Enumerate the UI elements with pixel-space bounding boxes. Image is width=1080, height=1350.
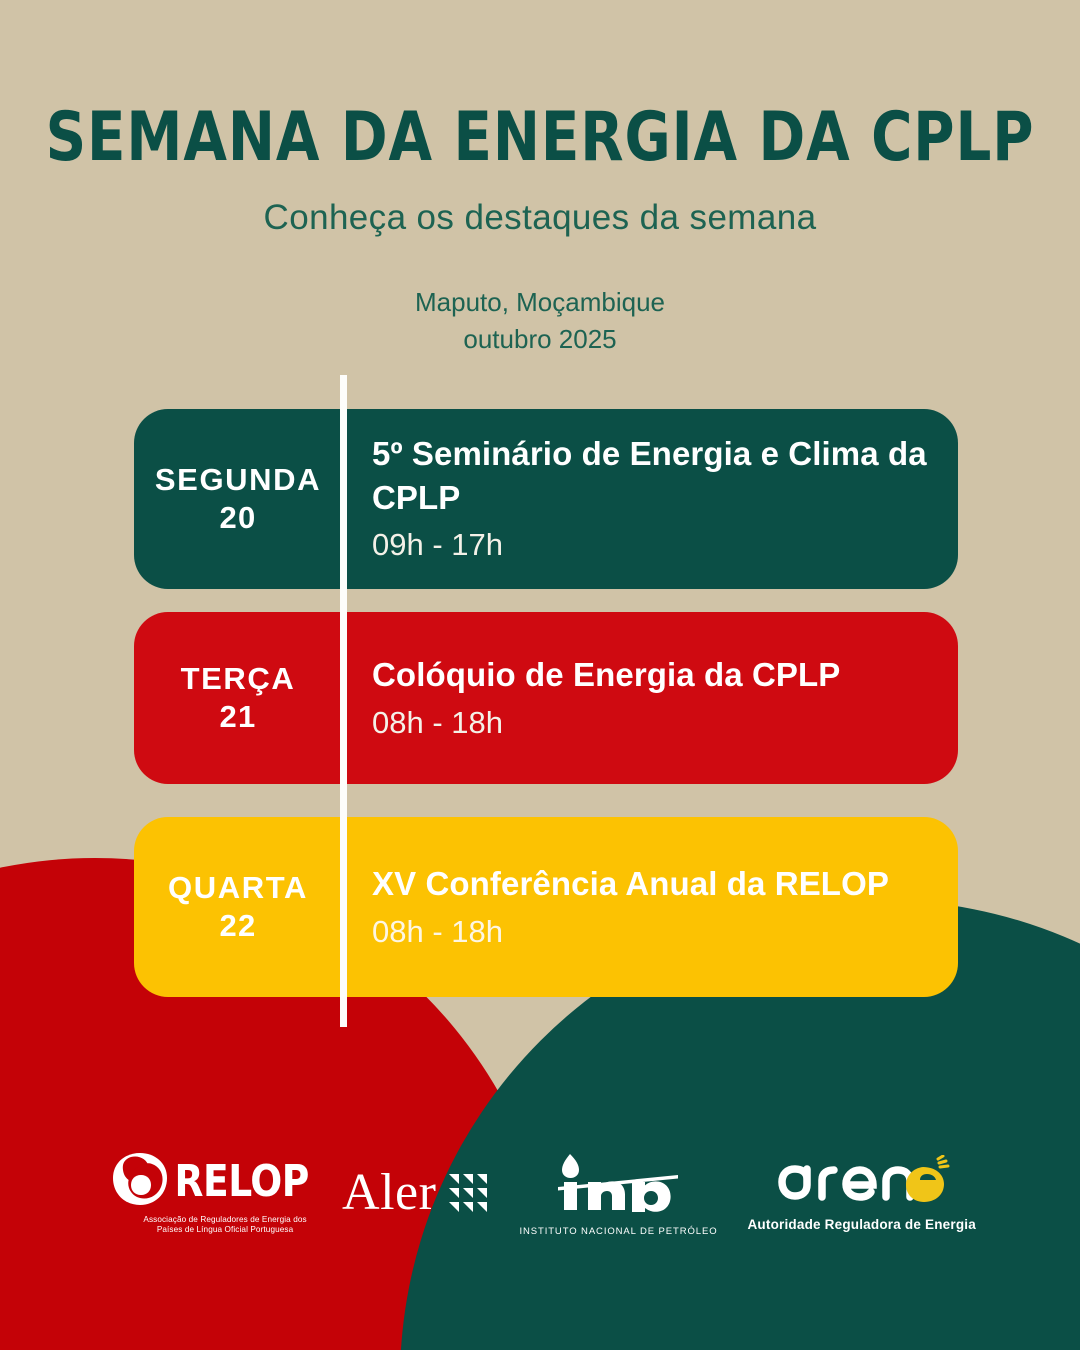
event-meta: Maputo, Moçambique outubro 2025 [0, 238, 1080, 358]
logo-relop-wordmark: RELOP [175, 1156, 309, 1207]
logo-relop[interactable]: RELOP Associação de Reguladores de Energ… [104, 1151, 320, 1236]
event-time: 08h - 18h [372, 906, 932, 952]
logo-inp-tagline: INSTITUTO NACIONAL DE PETRÓLEO [519, 1222, 717, 1237]
schedule-card-body: Colóquio de Energia da CPLP 08h - 18h [342, 612, 958, 784]
day-of-week-label: SEGUNDA [155, 461, 321, 499]
schedule-card-body: 5º Seminário de Energia e Clima da CPLP … [342, 409, 958, 589]
logo-inp[interactable]: INSTITUTO NACIONAL DE PETRÓLEO [519, 1150, 717, 1237]
event-date: outubro 2025 [0, 321, 1080, 358]
logo-relop-row: RELOP [111, 1151, 312, 1212]
poster-header: SEMANA DA ENERGIA DA CPLP Conheça os des… [0, 0, 1080, 358]
day-of-week-label: QUARTA [168, 869, 308, 907]
sponsor-logo-strip: RELOP Associação de Reguladores de Energ… [0, 1138, 1080, 1248]
logo-arene-wordmark [774, 1155, 950, 1213]
event-location: Maputo, Moçambique [0, 284, 1080, 321]
logo-relop-tagline: Associação de Reguladores de Energia dos… [104, 1212, 320, 1236]
schedule-card-terca[interactable]: TERÇA 21 Colóquio de Energia da CPLP 08h… [134, 612, 958, 784]
aler-leaf-grid-icon [448, 1174, 487, 1213]
schedule-card-segunda[interactable]: SEGUNDA 20 5º Seminário de Energia e Cli… [134, 409, 958, 589]
day-of-week-label: TERÇA [181, 660, 296, 698]
poster-subtitle: Conheça os destaques da semana [0, 172, 1080, 238]
arene-e-icon [906, 1156, 948, 1202]
page-title: SEMANA DA ENERGIA DA CPLP [43, 0, 1037, 172]
logo-aler[interactable]: Aler [342, 1167, 487, 1219]
logo-arene-tagline: Autoridade Reguladora de Energia [747, 1213, 975, 1232]
event-title: Colóquio de Energia da CPLP [372, 653, 932, 697]
schedule-card-day: QUARTA 22 [134, 817, 342, 997]
logo-arene[interactable]: Autoridade Reguladora de Energia [747, 1155, 975, 1232]
schedule-card-quarta[interactable]: QUARTA 22 XV Conferência Anual da RELOP … [134, 817, 958, 997]
poster-canvas: SEMANA DA ENERGIA DA CPLP Conheça os des… [0, 0, 1080, 1350]
schedule-card-body: XV Conferência Anual da RELOP 08h - 18h [342, 817, 958, 997]
schedule-card-day: SEGUNDA 20 [134, 409, 342, 589]
day-number-label: 21 [220, 698, 257, 736]
event-title: XV Conferência Anual da RELOP [372, 862, 932, 906]
schedule-card-day: TERÇA 21 [134, 612, 342, 784]
flame-drop-icon [562, 1154, 579, 1178]
timeline-rail [340, 375, 347, 1027]
event-time: 08h - 18h [372, 697, 932, 743]
logo-aler-wordmark: Aler [342, 1167, 436, 1219]
event-title: 5º Seminário de Energia e Clima da CPLP [372, 432, 932, 519]
day-number-label: 22 [220, 907, 257, 945]
day-number-label: 20 [220, 499, 257, 537]
event-time: 09h - 17h [372, 519, 932, 565]
logo-inp-wordmark [552, 1150, 684, 1222]
relop-blob-icon [111, 1151, 169, 1212]
